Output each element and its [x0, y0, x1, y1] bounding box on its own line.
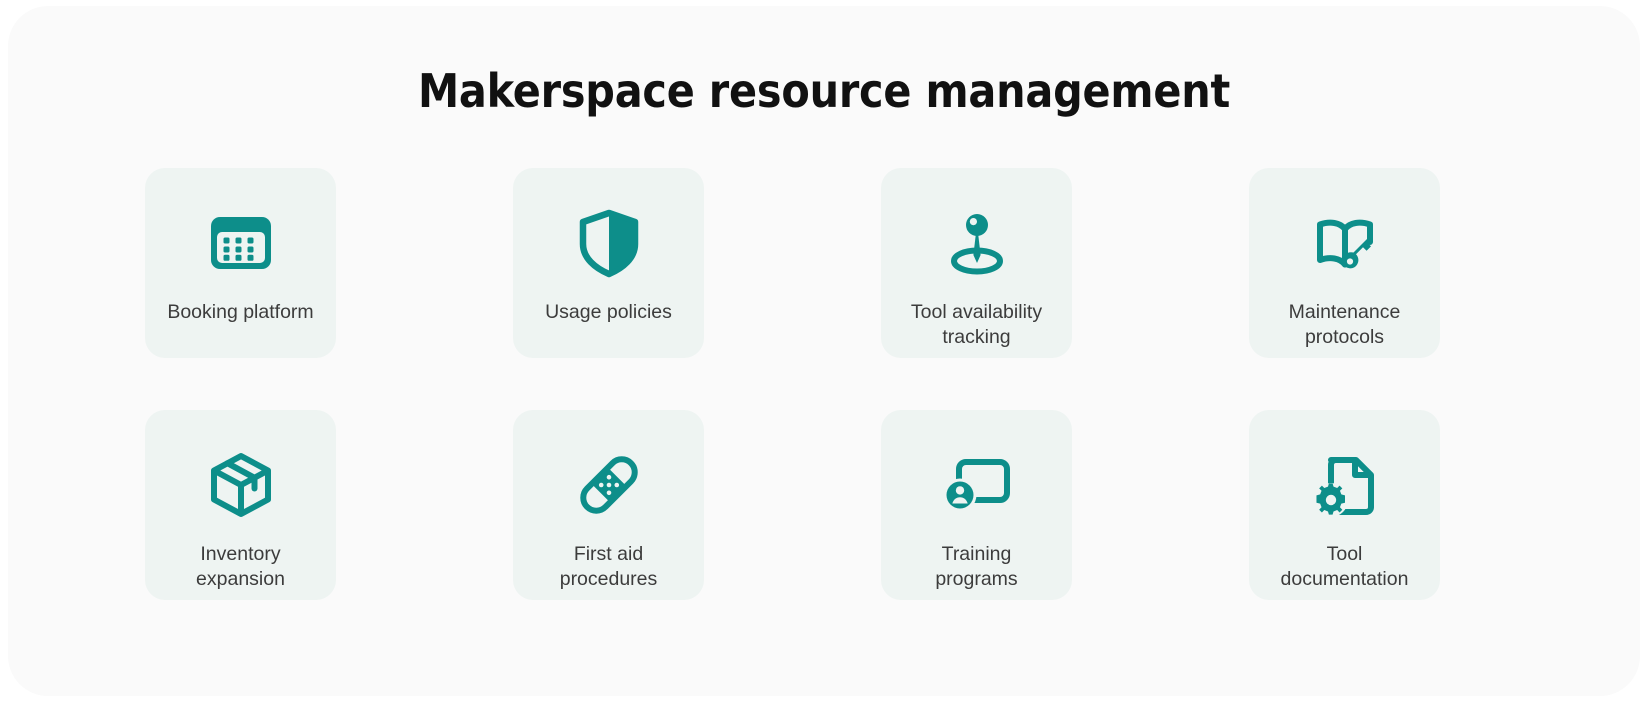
card-inventory-expansion[interactable]: Inventory expansion [145, 410, 336, 600]
bandage-icon [572, 448, 646, 522]
shield-icon [572, 206, 646, 280]
card-label: Maintenance protocols [1257, 300, 1433, 350]
card-label: Booking platform [153, 300, 329, 325]
whiteboard-person-icon [940, 448, 1014, 522]
card-label: Inventory expansion [153, 542, 329, 592]
map-pin-icon [940, 206, 1014, 280]
card-label: First aid procedures [521, 542, 697, 592]
card-training-programs[interactable]: Training programs [881, 410, 1072, 600]
calendar-icon [204, 206, 278, 280]
page-title: Makerspace resource management [8, 64, 1640, 118]
card-tool-documentation[interactable]: Tool documentation [1249, 410, 1440, 600]
package-box-icon [204, 448, 278, 522]
card-maintenance-protocols[interactable]: Maintenance protocols [1249, 168, 1440, 358]
book-wrench-icon [1308, 206, 1382, 280]
resource-card-grid: Booking platform Usage policies [145, 168, 1503, 600]
card-booking-platform[interactable]: Booking platform [145, 168, 336, 358]
card-usage-policies[interactable]: Usage policies [513, 168, 704, 358]
card-label: Usage policies [521, 300, 697, 325]
card-tool-availability-tracking[interactable]: Tool availability tracking [881, 168, 1072, 358]
card-label: Tool availability tracking [889, 300, 1065, 350]
slide-container: Makerspace resource management [8, 6, 1640, 696]
card-label: Tool documentation [1257, 542, 1433, 592]
card-first-aid-procedures[interactable]: First aid procedures [513, 410, 704, 600]
card-label: Training programs [889, 542, 1065, 592]
document-gear-icon [1308, 448, 1382, 522]
